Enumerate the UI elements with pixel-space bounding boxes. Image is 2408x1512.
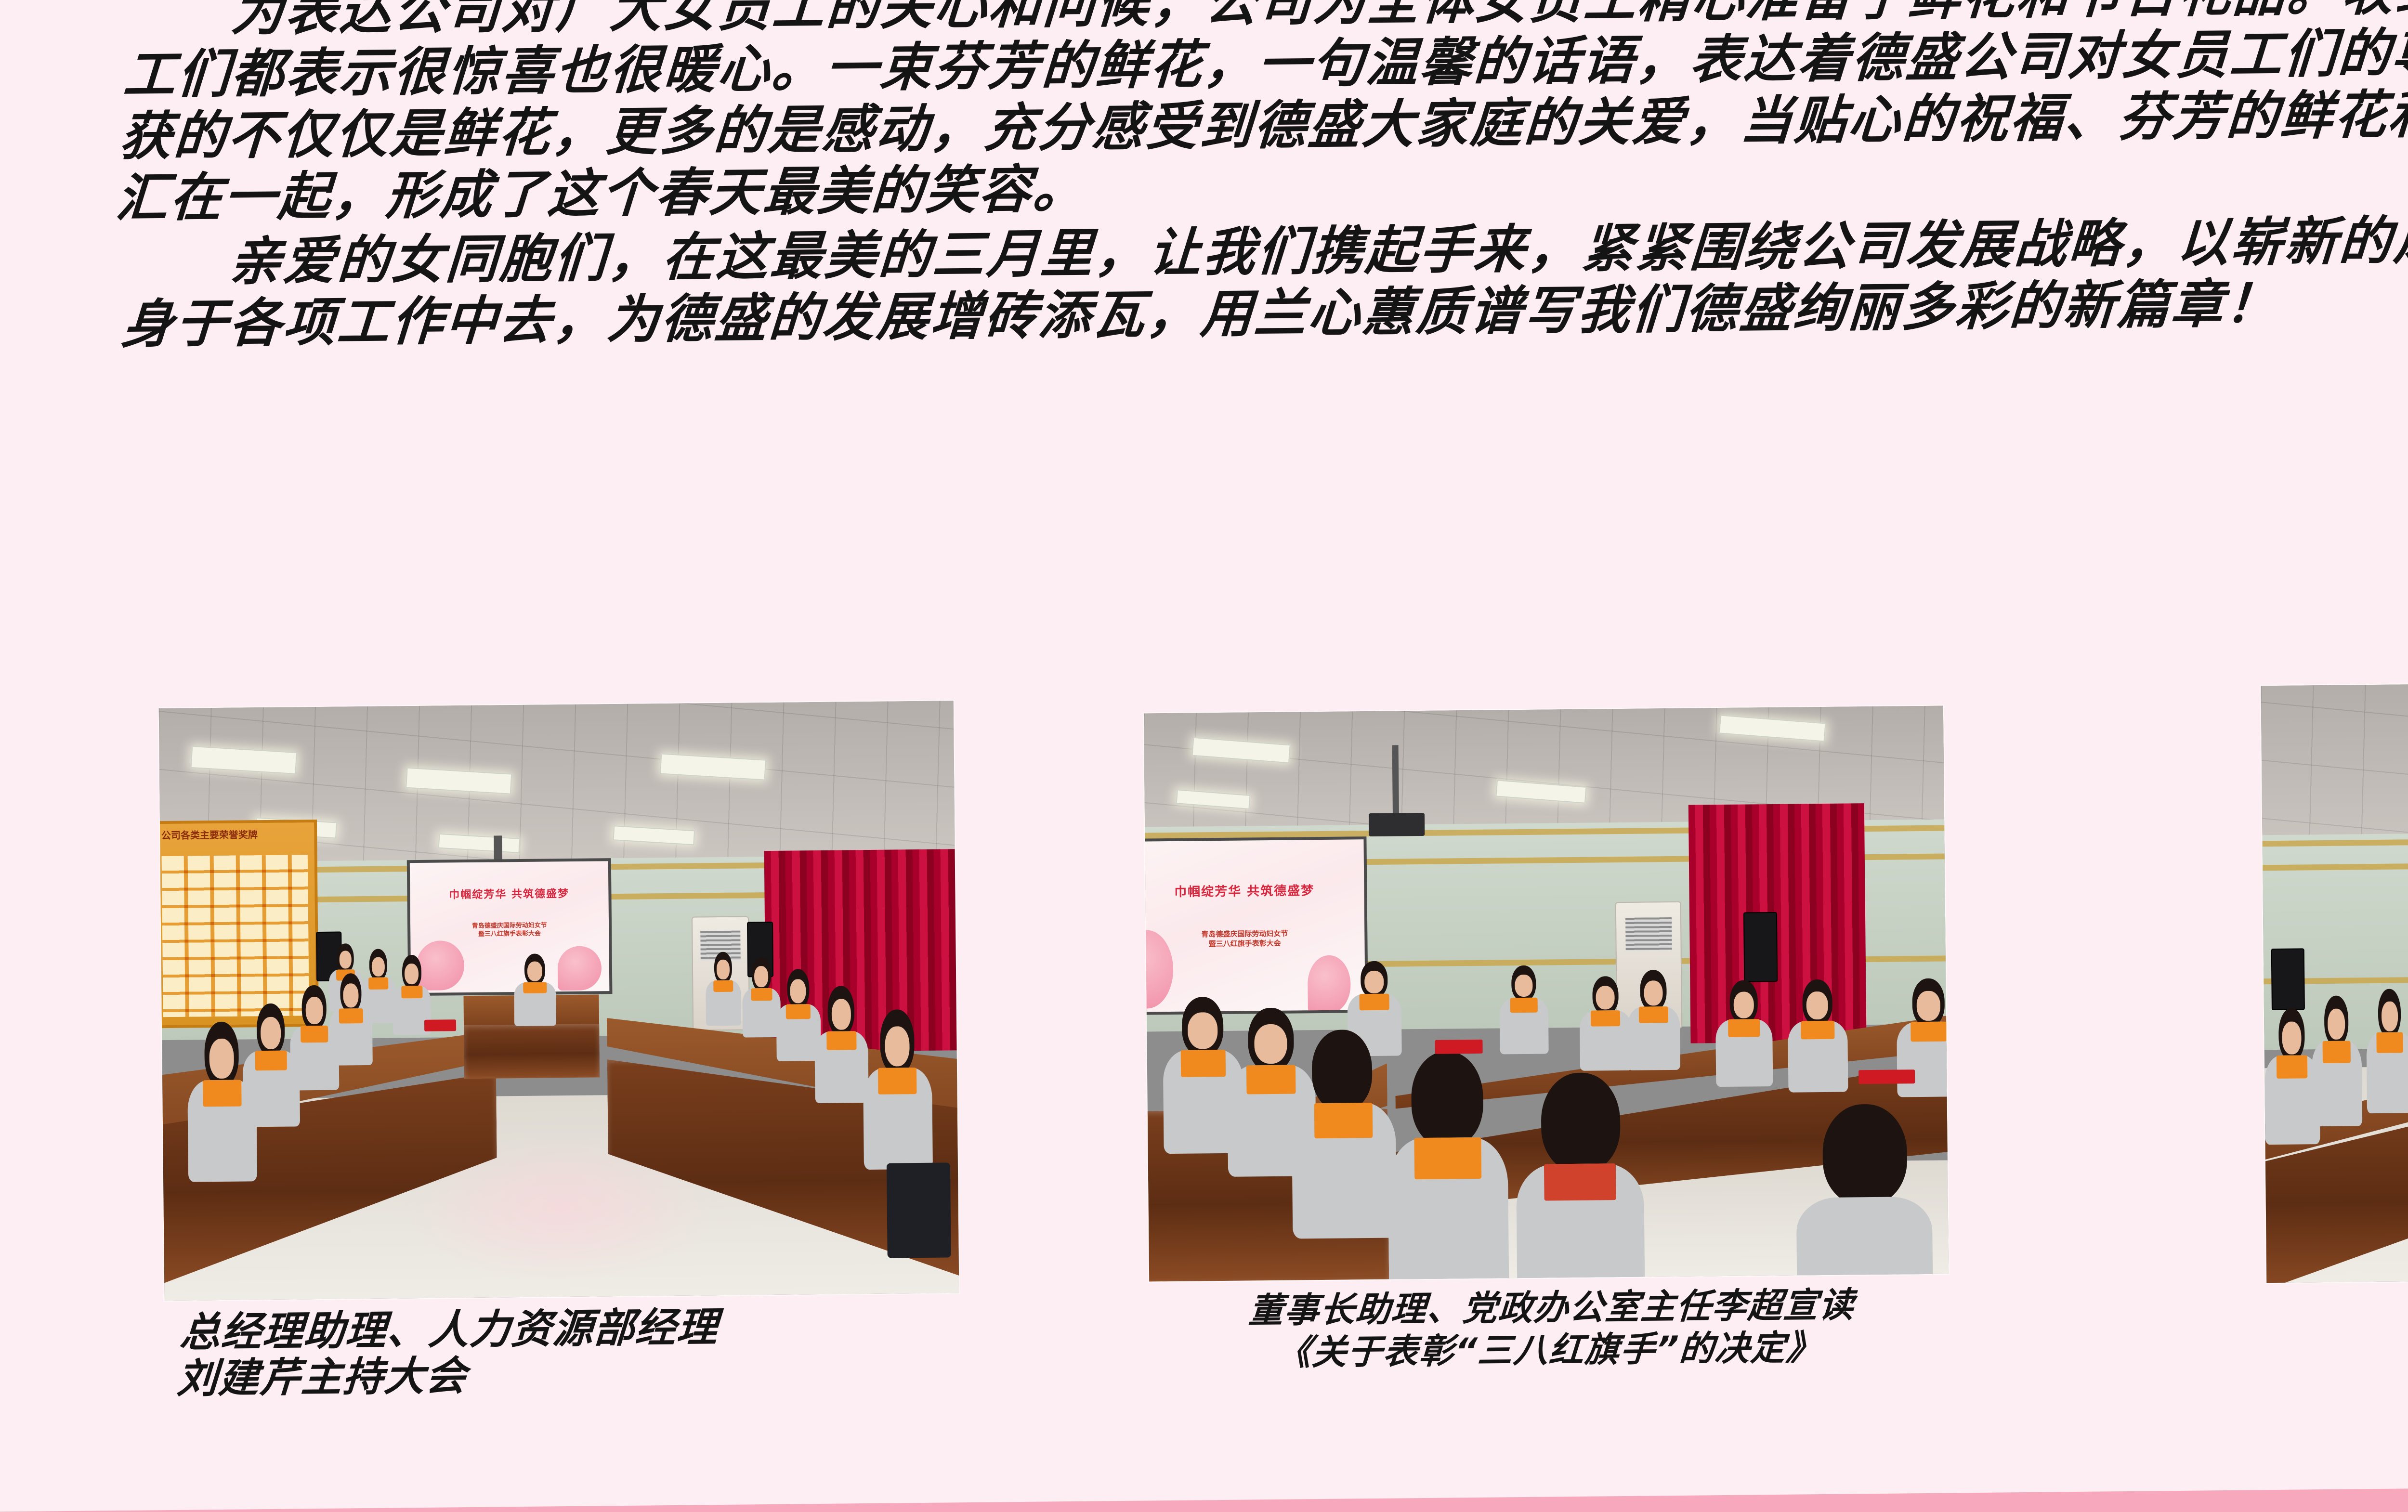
attendee-foreground [1387, 1051, 1509, 1279]
collar [751, 988, 772, 1001]
collar [713, 980, 733, 992]
face [1188, 1012, 1218, 1049]
face [2282, 1021, 2301, 1054]
face [305, 997, 323, 1024]
collar [203, 1080, 241, 1107]
photo-2-image: 巾帼绽芳华 共筑德盛梦 青岛德盛庆国际劳动妇女节 暨三八红旗手表彰大会 [1144, 706, 1949, 1282]
ac-vent [1625, 917, 1672, 950]
photo-3-caption: 党委书记、总经理罗赛为 2025年度三八红旗手颁奖 [2273, 1284, 2408, 1380]
collar [1911, 1022, 1947, 1042]
collar [1801, 1020, 1834, 1039]
collar [1414, 1137, 1481, 1179]
photo-2-caption: 董事长助理、党政办公室主任李超宣读 《关于表彰“三八红旗手”的决定》 [1149, 1282, 1952, 1375]
face [2382, 1002, 2398, 1031]
photo-block-3: 巾帼绽芳华 共筑德盛梦 青岛德盛庆国际劳动妇女节 暨三八红旗手表彰大会 [2261, 678, 2408, 1381]
attendee [705, 952, 742, 1023]
head [1248, 1007, 1294, 1071]
projector-arm [1392, 745, 1399, 819]
head [524, 953, 545, 985]
attendee [511, 953, 559, 1025]
face [1644, 980, 1662, 1006]
torso [1715, 1019, 1773, 1087]
collar [878, 1068, 916, 1095]
head [879, 1009, 915, 1074]
head [340, 973, 362, 1013]
applauding-attendee [2366, 989, 2408, 1109]
collar [301, 1026, 328, 1043]
torso [1627, 1006, 1680, 1070]
red-folder [1859, 1069, 1915, 1083]
attendee-foreground [1515, 1072, 1645, 1282]
projection-screen: 巾帼绽芳华 共筑德盛梦 青岛德盛庆国际劳动妇女节 暨三八红旗手表彰大会 [1144, 836, 1368, 1015]
head [827, 986, 854, 1036]
attendee [1714, 980, 1774, 1083]
attendee [1578, 976, 1634, 1067]
torso [706, 980, 741, 1026]
attendee [861, 1009, 934, 1163]
honor-board-grid [161, 855, 309, 1017]
head [1912, 978, 1945, 1027]
attendee [185, 1021, 259, 1176]
applauding-attendee [2311, 995, 2362, 1121]
head [1541, 1072, 1621, 1173]
torso [1499, 998, 1549, 1055]
face [343, 983, 358, 1008]
head [2324, 995, 2349, 1046]
head [787, 969, 810, 1008]
torso [1580, 1010, 1633, 1071]
article-body: 在日常工作中发挥了积极作用，成为公司发展的重要力量。 为表达公司对广大女员工的关… [120, 0, 2408, 359]
head [752, 957, 771, 991]
torso [1516, 1163, 1645, 1281]
head [337, 943, 354, 972]
collar [1510, 998, 1538, 1013]
face [1596, 986, 1615, 1010]
honor-board-title: 公司各类主要荣誉奖牌 [161, 826, 308, 842]
torso [1796, 1196, 1933, 1281]
torso [1897, 1021, 1949, 1097]
torso [188, 1080, 258, 1182]
torso [1387, 1137, 1509, 1282]
attendee [1786, 979, 1849, 1088]
head [1511, 965, 1536, 1002]
torso [1788, 1020, 1848, 1092]
photo-1-caption: 总经理助理、人力资源部经理 刘建芹主持大会 [176, 1302, 963, 1402]
face [405, 964, 419, 985]
face [1733, 991, 1754, 1018]
collar [523, 982, 547, 993]
collar [1180, 1050, 1225, 1077]
paragraph-1: 为表达公司对广大女员工的关心和问候，公司为全体女员工精心准备了鲜花和节日礼品。收… [114, 0, 2408, 230]
face [831, 999, 851, 1030]
collar [786, 1004, 811, 1019]
head [204, 1021, 239, 1086]
photo-3-image: 巾帼绽芳华 共筑德盛梦 青岛德盛庆国际劳动妇女节 暨三八红旗手表彰大会 [2261, 678, 2408, 1283]
collar [2277, 1055, 2307, 1079]
face [790, 979, 806, 1004]
face [717, 960, 730, 979]
paragraph-2: 亲爱的女同胞们，在这最美的三月里，让我们携起手来，紧紧围绕公司发展战略，以崭新的… [120, 206, 2408, 356]
head [402, 955, 421, 989]
face [340, 951, 352, 969]
face [1515, 975, 1532, 997]
head [714, 952, 732, 983]
head [1640, 970, 1666, 1011]
head [2278, 1008, 2305, 1061]
collar [1314, 1103, 1373, 1138]
document-page: 在日常工作中发挥了积极作用，成为公司发展的重要力量。 为表达公司对广大女员工的关… [0, 0, 2408, 1512]
head [1411, 1051, 1483, 1147]
face [1806, 991, 1828, 1020]
head [1592, 976, 1619, 1015]
torso [2366, 1032, 2408, 1114]
collar [826, 1031, 856, 1050]
torso [514, 982, 556, 1026]
face [754, 966, 768, 987]
face [1254, 1024, 1287, 1064]
red-folder [1435, 1040, 1483, 1054]
screen-subtitle: 青岛德盛庆国际劳动妇女节 暨三八红旗手表彰大会 [422, 921, 597, 939]
face [261, 1017, 281, 1049]
torso [1291, 1103, 1396, 1239]
photo-1-image: 公司各类主要荣誉奖牌 巾帼绽芳华 共筑德盛梦 青岛德盛庆国际劳动妇女节 暨三八红… [159, 701, 959, 1301]
head [1311, 1030, 1373, 1111]
collar [1544, 1163, 1616, 1201]
head [1729, 980, 1758, 1024]
head [1802, 979, 1832, 1025]
collar [339, 1008, 363, 1023]
collar [2377, 1032, 2403, 1053]
chair [886, 1163, 951, 1258]
collar [401, 985, 423, 998]
attendee [1498, 965, 1550, 1051]
collar [1591, 1010, 1620, 1026]
face [1917, 991, 1940, 1021]
screen-title: 巾帼绽芳华 共筑德盛梦 [1144, 880, 1350, 900]
torso [815, 1031, 869, 1104]
collar [1639, 1006, 1668, 1023]
head [302, 985, 327, 1030]
torso [863, 1068, 933, 1170]
collar [1359, 994, 1389, 1010]
projector [1369, 813, 1425, 836]
head-table-side [464, 1024, 600, 1079]
attendee [1626, 970, 1681, 1067]
torso [2311, 1041, 2362, 1126]
collar [1728, 1019, 1760, 1037]
face [1364, 971, 1384, 993]
head [1822, 1104, 1908, 1205]
collar [255, 1051, 287, 1071]
face [372, 957, 385, 977]
head [256, 1004, 285, 1056]
head [2378, 989, 2401, 1037]
red-folder [424, 1019, 456, 1031]
attendee-foreground [1795, 1104, 1933, 1282]
speaker [1743, 912, 1778, 982]
photo-block-2: 巾帼绽芳华 共筑德盛梦 青岛德盛庆国际劳动妇女节 暨三八红旗手表彰大会 [1144, 706, 1950, 1375]
head [1182, 997, 1224, 1056]
face [885, 1026, 910, 1067]
projection-screen: 巾帼绽芳华 共筑德盛梦 青岛德盛庆国际劳动妇女节 暨三八红旗手表彰大会 [406, 858, 612, 996]
face [2328, 1008, 2345, 1040]
speaker [2271, 948, 2305, 1010]
face [527, 962, 543, 981]
collar [1246, 1065, 1296, 1094]
screen-title: 巾帼绽芳华 共筑德盛梦 [422, 885, 597, 901]
attendee-foreground [1291, 1029, 1397, 1223]
screen-subtitle: 青岛德盛庆国际劳动妇女节 暨三八红旗手表彰大会 [1144, 928, 1350, 949]
face [209, 1038, 234, 1079]
collar [2322, 1041, 2351, 1063]
flower-graphic [557, 946, 602, 991]
flower-graphic [1307, 955, 1351, 1014]
photo-gallery: 公司各类主要荣誉奖牌 巾帼绽芳华 共筑德盛梦 青岛德盛庆国际劳动妇女节 暨三八红… [0, 654, 2408, 1454]
head [1361, 961, 1387, 998]
photo-block-1: 公司各类主要荣誉奖牌 巾帼绽芳华 共筑德盛梦 青岛德盛庆国际劳动妇女节 暨三八红… [159, 701, 960, 1402]
